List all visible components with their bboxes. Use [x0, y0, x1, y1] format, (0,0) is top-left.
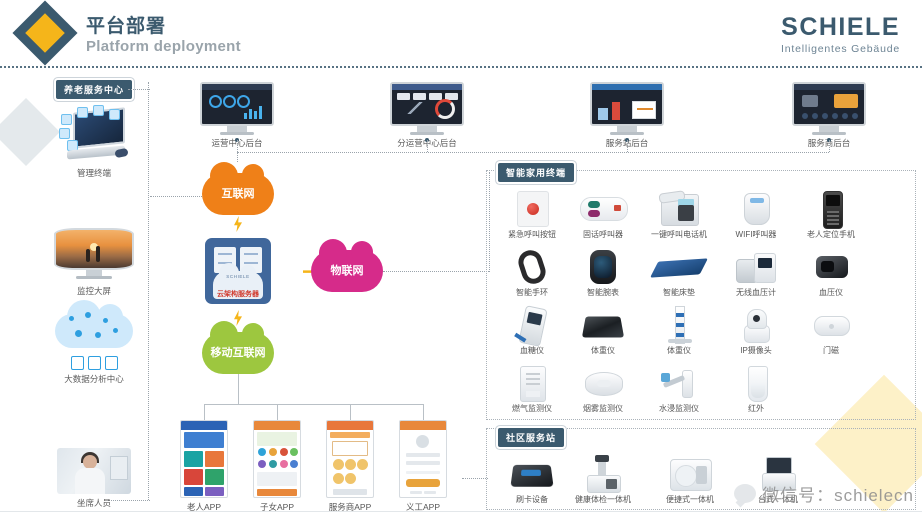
device-ip-camera[interactable]: IP摄像头: [718, 306, 794, 356]
page-title-cn: 平台部署: [86, 11, 166, 38]
water-leak-detector-icon: [651, 364, 707, 402]
device-smoke-detector[interactable]: 烟雾监测仪: [565, 364, 641, 414]
app-drop-line: [204, 404, 205, 420]
big-data-cloud-icon: [51, 310, 137, 370]
card-reader-icon: [504, 455, 560, 493]
sub-operations-center-console-icon: [390, 82, 464, 126]
device-smart-wristband[interactable]: 智能手环: [494, 248, 570, 298]
large-screen-monitor-icon: [54, 228, 134, 282]
device-label: 固话呼叫器: [565, 230, 641, 240]
brand-name: SCHIELE: [781, 14, 900, 41]
cloud-mobile-internet: 移动互联网: [202, 332, 274, 374]
app-volunteer[interactable]: 义工APP: [393, 420, 453, 513]
body-weight-scale-icon: [575, 306, 631, 344]
footer-divider: [0, 511, 922, 520]
section-tag-home-terminals: 智能家用终端: [498, 163, 574, 182]
height-weight-meter-icon: [651, 306, 707, 344]
apps-bus-line: [204, 404, 424, 405]
ip-camera-icon: [728, 306, 784, 344]
wechat-icon: [734, 484, 756, 503]
server-brand-label: SCHIELE: [205, 274, 271, 279]
cloud-architecture-server: SCHIELE 云架构服务器: [205, 238, 271, 304]
app-family[interactable]: 子女APP: [247, 420, 307, 513]
internet-left-connector: [150, 196, 202, 197]
device-blood-pressure-meter[interactable]: 血压仪: [793, 248, 869, 298]
device-label: 一键呼叫电话机: [641, 230, 717, 240]
health-checkup-kiosk-icon: [575, 455, 631, 493]
lightning-bolt-icon: [233, 216, 243, 232]
device-label: 健康体检一体机: [565, 495, 641, 505]
device-label: 水浸监测仪: [641, 404, 717, 414]
sidebar-item-label: 坐席人员: [46, 497, 142, 509]
device-card-reader[interactable]: 刷卡设备: [494, 455, 570, 505]
blood-glucose-meter-icon: [504, 306, 560, 344]
service-station-console-icon: [590, 82, 664, 126]
device-label: 体重仪: [565, 346, 641, 356]
section-tag-elderly-care-center: 养老服务中心: [56, 80, 132, 99]
device-label: 智能床垫: [641, 288, 717, 298]
emergency-call-button-icon: [504, 190, 560, 228]
wechat-watermark: 微信号：schielecn: [734, 481, 914, 506]
device-label: 无线血压计: [718, 288, 794, 298]
device-label: 烟雾监测仪: [565, 404, 641, 414]
brand-tagline: Intelligentes Gebäude: [781, 43, 900, 55]
app-elderly[interactable]: 老人APP: [174, 420, 234, 513]
cloud-iot-label: 物联网: [331, 265, 364, 277]
device-door-sensor[interactable]: 门磁: [793, 306, 869, 356]
device-label: 老人定位手机: [793, 230, 869, 240]
sidebar-item-monitoring-wall[interactable]: 监控大屏: [46, 228, 142, 297]
sidebar-item-management-terminal[interactable]: 管理终端: [46, 108, 142, 179]
community-station-connector: [462, 478, 488, 479]
sidebar-item-label: 管理终端: [46, 167, 142, 179]
sidebar-item-call-agents[interactable]: 坐席人员: [46, 448, 142, 509]
device-health-checkup-kiosk[interactable]: 健康体检一体机: [565, 455, 641, 505]
device-portable-all-in-one[interactable]: 便捷式一体机: [652, 455, 728, 505]
desktop-terminal-icon: [57, 108, 131, 164]
console-drop-line: [829, 140, 830, 152]
page-header: 平台部署 Platform deployment SCHIELE Intelli…: [0, 0, 922, 68]
smart-watch-icon: [575, 248, 631, 286]
device-label: 红外: [718, 404, 794, 414]
cloud-internet-label: 互联网: [222, 188, 255, 200]
iot-to-devices-connector: [383, 271, 489, 272]
family-app-icon: [253, 420, 301, 498]
left-column-divider: [148, 82, 149, 500]
console-drop-line: [627, 140, 628, 152]
service-provider-console-icon: [792, 82, 866, 126]
device-label: 燃气监测仪: [494, 404, 570, 414]
wireless-blood-pressure-monitor-icon: [728, 248, 784, 286]
call-agent-icon: [57, 448, 131, 494]
device-smart-mattress[interactable]: 智能床垫: [641, 248, 717, 298]
cloud-iot: 物联网: [311, 250, 383, 292]
page-title-en: Platform deployment: [86, 38, 241, 55]
device-water-leak-detector[interactable]: 水浸监测仪: [641, 364, 717, 414]
device-label: 血压仪: [793, 288, 869, 298]
wechat-id-text: 微信号：schielecn: [762, 481, 914, 506]
console-drop-line: [427, 140, 428, 152]
provider-app-icon: [326, 420, 374, 498]
device-label: IP摄像头: [718, 346, 794, 356]
landline-caller-icon: [575, 190, 631, 228]
device-label: 智能手环: [494, 288, 570, 298]
device-body-weight-scale[interactable]: 体重仪: [565, 306, 641, 356]
smart-mattress-icon: [651, 248, 707, 286]
device-label: 体重仪: [641, 346, 717, 356]
section-tag-community-station: 社区服务站: [498, 428, 564, 447]
device-label: 刷卡设备: [494, 495, 570, 505]
blood-pressure-meter-icon: [803, 248, 859, 286]
apps-riser: [238, 374, 239, 404]
cloud-mobile-internet-label: 移动互联网: [211, 347, 266, 359]
app-provider[interactable]: 服务商APP: [320, 420, 380, 513]
sidebar-item-label: 监控大屏: [46, 285, 142, 297]
device-label: 便捷式一体机: [652, 495, 728, 505]
device-wifi-caller[interactable]: WIFI呼叫器: [718, 190, 794, 240]
device-label: 智能腕表: [565, 288, 641, 298]
header-divider: [0, 66, 922, 68]
elderly-gps-phone-icon: [803, 190, 859, 228]
console-drop-line: [237, 140, 238, 162]
device-emergency-call-button[interactable]: 紧急呼叫按钮: [494, 190, 570, 240]
device-landline-caller[interactable]: 固话呼叫器: [565, 190, 641, 240]
wifi-caller-icon: [728, 190, 784, 228]
elderly-app-icon: [180, 420, 228, 498]
portable-all-in-one-icon: [662, 455, 718, 493]
sidebar-item-big-data-center[interactable]: 大数据分析中心: [46, 310, 142, 385]
device-height-weight-meter[interactable]: 体重仪: [641, 306, 717, 356]
device-label: WIFI呼叫器: [718, 230, 794, 240]
device-elderly-gps-phone[interactable]: 老人定位手机: [793, 190, 869, 240]
sidebar-item-label: 大数据分析中心: [46, 373, 142, 385]
gas-detector-icon: [504, 364, 560, 402]
device-label: 血糖仪: [494, 346, 570, 356]
smart-wristband-icon: [504, 248, 560, 286]
cloud-internet: 互联网: [202, 173, 274, 215]
app-drop-line: [277, 404, 278, 420]
device-wireless-blood-pressure-monitor[interactable]: 无线血压计: [718, 248, 794, 298]
schiele-diamond-logo-icon: [12, 0, 77, 65]
device-label: 紧急呼叫按钮: [494, 230, 570, 240]
device-smart-watch[interactable]: 智能腕表: [565, 248, 641, 298]
server-label: 云架构服务器: [205, 289, 271, 299]
door-magnetic-sensor-icon: [803, 306, 859, 344]
volunteer-app-icon: [399, 420, 447, 498]
infrared-sensor-icon: [728, 364, 784, 402]
brand-block: SCHIELE Intelligentes Gebäude: [781, 14, 900, 55]
device-blood-glucose-meter[interactable]: 血糖仪: [494, 306, 570, 356]
console-bus-line: [237, 152, 829, 153]
lightning-bolt-icon: [233, 310, 243, 326]
device-infrared-sensor[interactable]: 红外: [718, 364, 794, 414]
one-touch-call-phone-icon: [651, 190, 707, 228]
tag-connector-left: [128, 89, 150, 90]
device-one-touch-call-phone[interactable]: 一键呼叫电话机: [641, 190, 717, 240]
smoke-detector-icon: [575, 364, 631, 402]
device-label: 门磁: [793, 346, 869, 356]
app-drop-line: [350, 404, 351, 420]
app-drop-line: [423, 404, 424, 420]
operations-center-console-icon: [200, 82, 274, 126]
device-gas-detector[interactable]: 燃气监测仪: [494, 364, 570, 414]
platform-deployment-diagram: 平台部署 Platform deployment SCHIELE Intelli…: [0, 0, 922, 520]
